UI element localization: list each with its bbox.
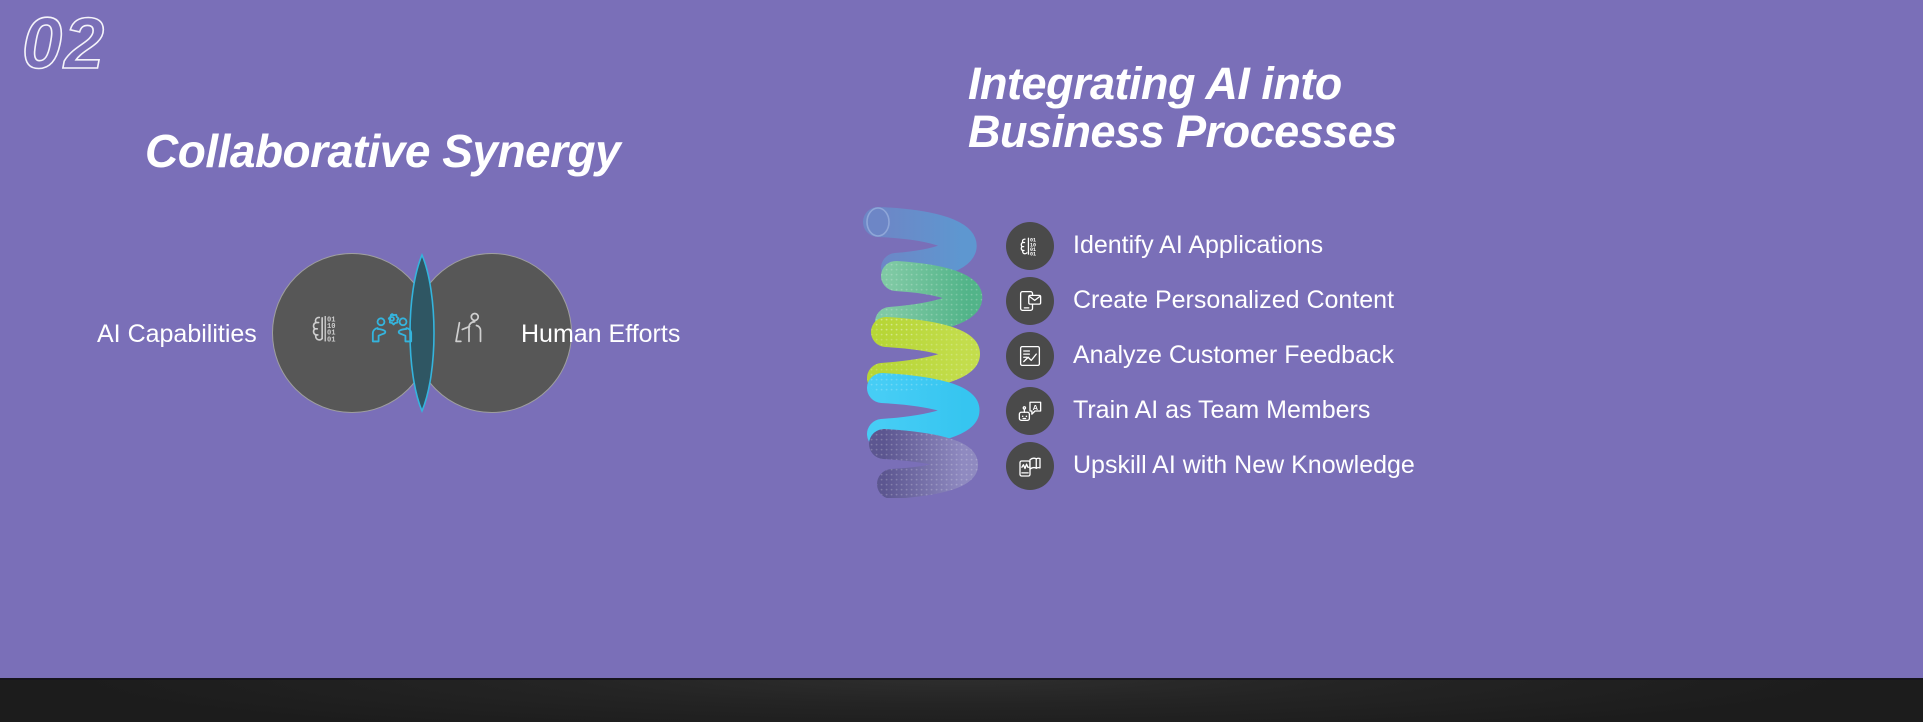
right-title-line-1: Integrating AI into	[968, 60, 1438, 108]
phone-book-icon	[1006, 442, 1054, 490]
brain-binary-icon: 0110 0101	[303, 305, 349, 351]
right-section-title: Integrating AI into Business Processes	[968, 60, 1438, 155]
list-item-label: Create Personalized Content	[1073, 286, 1394, 315]
svg-text:A: A	[1033, 402, 1039, 411]
chart-document-icon	[1006, 332, 1054, 380]
section-number: 02	[22, 8, 106, 80]
venn-label-ai-capabilities: AI Capabilities	[97, 320, 257, 349]
brain-binary-icon: 0110 0101	[1006, 222, 1054, 270]
phone-envelope-icon	[1006, 277, 1054, 325]
process-step-list: 0110 0101 Identify AI Applications	[1006, 218, 1476, 493]
left-section-title: Collaborative Synergy	[145, 127, 620, 176]
list-item-label: Train AI as Team Members	[1073, 396, 1370, 425]
svg-text:01: 01	[327, 336, 336, 344]
slide-bottom-bar	[0, 678, 1923, 722]
venn-intersection	[412, 253, 432, 413]
right-title-line-2: Business Processes	[968, 108, 1438, 156]
serpentine-ribbon-graphic	[860, 198, 1005, 498]
venn-label-human-efforts: Human Efforts	[521, 320, 680, 349]
robot-chat-icon: A	[1006, 387, 1054, 435]
list-item-label: Identify AI Applications	[1073, 231, 1323, 260]
list-item[interactable]: Analyze Customer Feedback	[1006, 328, 1476, 383]
presentation-slide: 02 Collaborative Synergy Integrating AI …	[0, 0, 1923, 722]
list-item[interactable]: A Train AI as Team Members	[1006, 383, 1476, 438]
svg-text:01: 01	[1030, 251, 1036, 257]
list-item[interactable]: Upskill AI with New Knowledge	[1006, 438, 1476, 493]
person-workstation-icon	[446, 305, 492, 351]
slide-canvas: 02 Collaborative Synergy Integrating AI …	[0, 0, 1923, 678]
list-item-label: Analyze Customer Feedback	[1073, 341, 1394, 370]
list-item[interactable]: 0110 0101 Identify AI Applications	[1006, 218, 1476, 273]
list-item[interactable]: Create Personalized Content	[1006, 273, 1476, 328]
collaboration-gear-icon	[369, 305, 415, 351]
list-item-label: Upskill AI with New Knowledge	[1073, 451, 1415, 480]
